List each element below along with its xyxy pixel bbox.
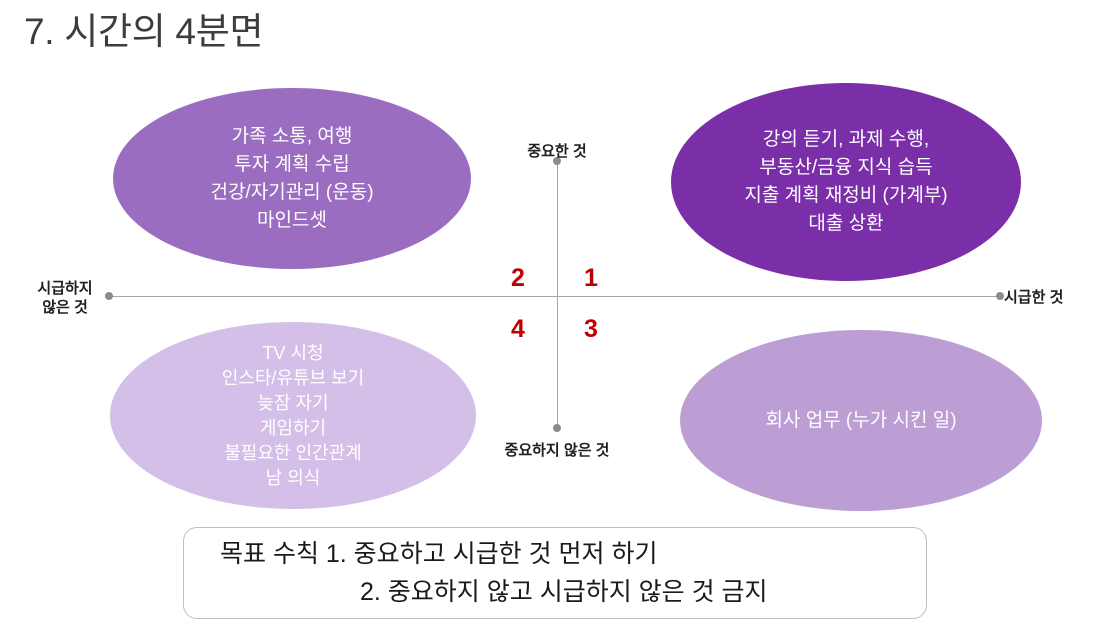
- quadrant-number-3: 3: [584, 317, 598, 342]
- axis-label-urgent: 시급한 것: [1004, 288, 1063, 307]
- quadrant-ellipse-top-left: 가족 소통, 여행 투자 계획 수립 건강/자기관리 (운동) 마인드셋: [113, 88, 471, 269]
- axis-endpoint-dot-left: [105, 292, 113, 300]
- axis-endpoint-dot-bottom: [553, 424, 561, 432]
- axis-label-important: 중요한 것: [511, 142, 603, 161]
- quadrant-ellipse-top-right: 강의 듣기, 과제 수행, 부동산/금융 지식 습득 지출 계획 재정비 (가계…: [671, 83, 1021, 281]
- quadrant-ellipse-bottom-left: TV 시청 인스타/유튜브 보기 늦잠 자기 게임하기 불필요한 인간관계 남 …: [110, 322, 476, 509]
- axis-label-not-urgent: 시급하지 않은 것: [26, 279, 104, 317]
- vertical-axis-line: [557, 160, 558, 428]
- page-title: 7. 시간의 4분면: [24, 8, 263, 56]
- quadrant-ellipse-top-right-text: 강의 듣기, 과제 수행, 부동산/금융 지식 습득 지출 계획 재정비 (가계…: [671, 126, 1021, 238]
- goal-rule-line-1: 목표 수칙 1. 중요하고 시급한 것 먼저 하기: [220, 535, 657, 573]
- quadrant-ellipse-bottom-right-text: 회사 업무 (누가 시킨 일): [680, 407, 1042, 435]
- horizontal-axis-line: [108, 296, 1000, 297]
- goal-rules-box: 목표 수칙 1. 중요하고 시급한 것 먼저 하기 2. 중요하지 않고 시급하…: [183, 527, 927, 619]
- slide-canvas: 7. 시간의 4분면 중요한 것 중요하지 않은 것 시급하지 않은 것 시급한…: [0, 0, 1110, 625]
- quadrant-number-4: 4: [511, 317, 525, 342]
- quadrant-ellipse-bottom-left-text: TV 시청 인스타/유튜브 보기 늦잠 자기 게임하기 불필요한 인간관계 남 …: [110, 341, 476, 491]
- quadrant-ellipse-bottom-right: 회사 업무 (누가 시킨 일): [680, 330, 1042, 511]
- axis-endpoint-dot-right: [996, 292, 1004, 300]
- axis-label-not-important: 중요하지 않은 것: [487, 441, 627, 460]
- quadrant-ellipse-top-left-text: 가족 소통, 여행 투자 계획 수립 건강/자기관리 (운동) 마인드셋: [113, 123, 471, 235]
- goal-rule-line-2: 2. 중요하지 않고 시급하지 않은 것 금지: [360, 573, 768, 611]
- quadrant-number-2: 2: [511, 266, 525, 291]
- quadrant-number-1: 1: [584, 266, 598, 291]
